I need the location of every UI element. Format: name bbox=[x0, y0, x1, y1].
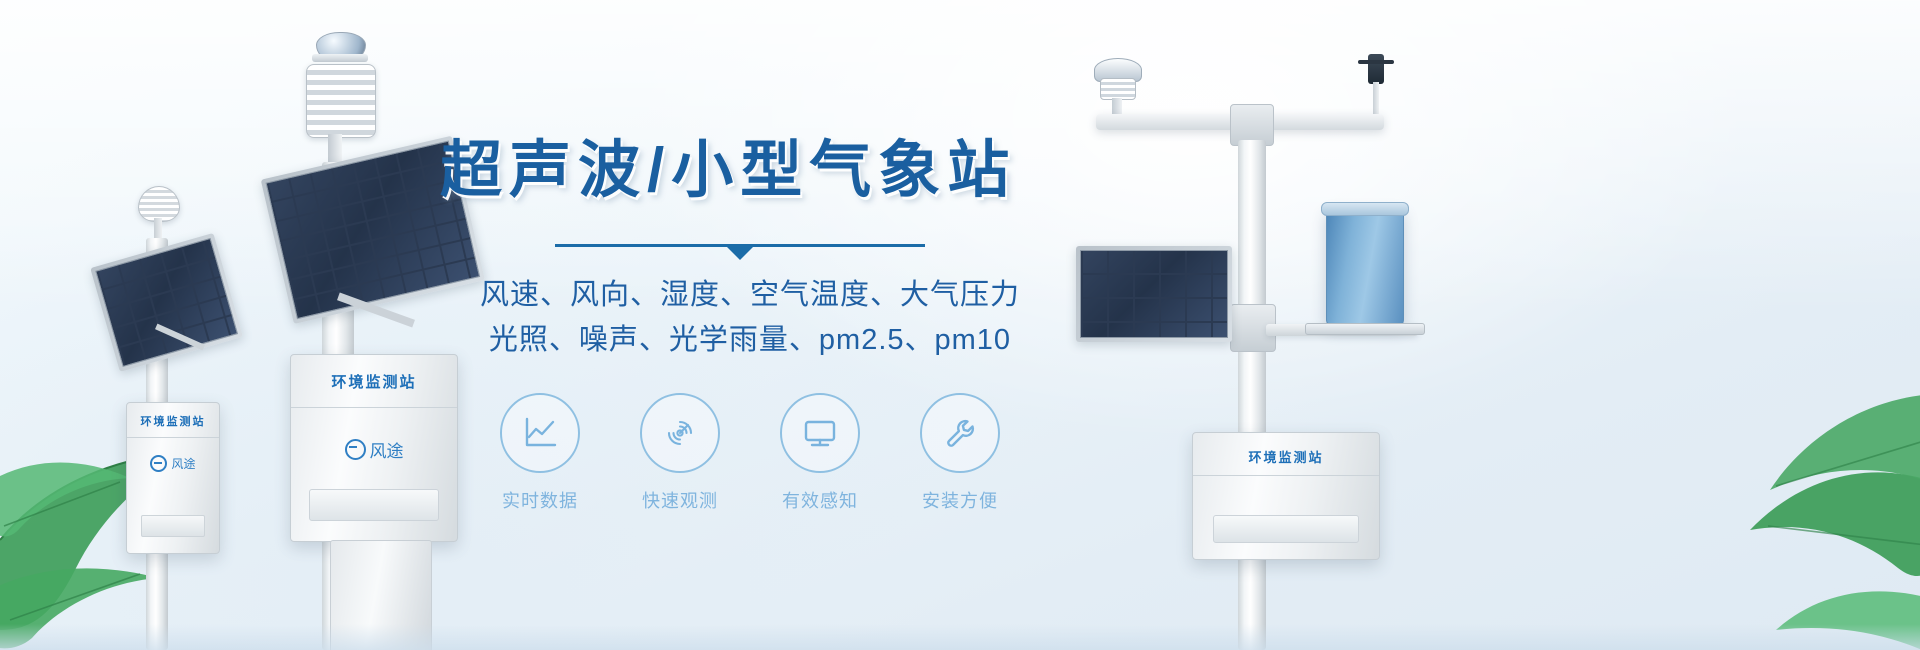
cabinet-left: 环境监测站 风途 bbox=[126, 402, 220, 554]
rain-gauge-cap bbox=[1321, 202, 1409, 216]
radar-observation-icon bbox=[659, 412, 701, 454]
radiation-shield-sensor-left bbox=[138, 186, 180, 222]
feature-item-easy-install[interactable]: 安装方便 bbox=[912, 393, 1008, 513]
cabinet-brand-center: 风途 bbox=[291, 437, 457, 462]
banner-stage: 环境监测站 风途 环境监测站 bbox=[0, 0, 1920, 650]
feature-item-effective-sensing[interactable]: 有效感知 bbox=[772, 393, 868, 513]
leaf-decoration-right bbox=[1658, 300, 1920, 650]
ground-fade bbox=[0, 624, 1920, 650]
feature-label: 安装方便 bbox=[912, 487, 1008, 513]
feature-icon-circle bbox=[640, 393, 720, 473]
feature-label: 实时数据 bbox=[492, 487, 588, 513]
brand-mark-icon bbox=[345, 439, 366, 460]
cabinet-label-left: 环境监测站 bbox=[127, 413, 219, 429]
solar-panel-right bbox=[1076, 246, 1232, 342]
feature-icon-circle bbox=[500, 393, 580, 473]
optical-rain-gauge-right bbox=[1326, 208, 1404, 326]
feature-icon-circle bbox=[780, 393, 860, 473]
wrench-tool-icon bbox=[939, 412, 981, 454]
cabinet-label-right: 环境监测站 bbox=[1193, 447, 1379, 466]
monitor-display-icon bbox=[799, 412, 841, 454]
feature-list: 实时数据 快速观测 bbox=[440, 393, 1060, 513]
feature-item-fast-observation[interactable]: 快速观测 bbox=[632, 393, 728, 513]
ultrasonic-wind-sensor-right bbox=[1088, 58, 1146, 116]
cabinet-label-center: 环境监测站 bbox=[291, 371, 457, 392]
mast-pole-right bbox=[1238, 140, 1266, 650]
cabinet-center: 环境监测站 风途 bbox=[290, 354, 458, 542]
page-title: 超声波/小型气象站 bbox=[440, 138, 1060, 203]
radiation-shield-sensor-center bbox=[306, 64, 376, 138]
cabinet-right: 环境监测站 bbox=[1192, 432, 1380, 560]
brand-mark-icon bbox=[150, 455, 167, 472]
rain-gauge-base bbox=[1305, 323, 1425, 335]
feature-item-realtime-data[interactable]: 实时数据 bbox=[492, 393, 588, 513]
product-station-left: 环境监测站 风途 bbox=[112, 186, 292, 650]
cabinet-brand-left: 风途 bbox=[127, 455, 219, 472]
feature-label: 有效感知 bbox=[772, 487, 868, 513]
solar-panel-left bbox=[90, 233, 243, 372]
banner-copy: 超声波/小型气象站 风速、风向、湿度、空气温度、大气压力 光照、噪声、光学雨量、… bbox=[440, 96, 1060, 513]
feature-icon-circle bbox=[920, 393, 1000, 473]
subtitle-line-1: 风速、风向、湿度、空气温度、大气压力 bbox=[440, 273, 1060, 318]
line-chart-icon bbox=[519, 412, 561, 454]
ultrasonic-sensor-head-center bbox=[308, 24, 372, 64]
subtitle-line-2: 光照、噪声、光学雨量、pm2.5、pm10 bbox=[440, 318, 1060, 363]
title-divider bbox=[555, 244, 925, 247]
feature-label: 快速观测 bbox=[632, 487, 728, 513]
product-station-right: 环境监测站 bbox=[1060, 48, 1460, 650]
subtitle-group: 风速、风向、湿度、空气温度、大气压力 光照、噪声、光学雨量、pm2.5、pm10 bbox=[440, 273, 1060, 363]
